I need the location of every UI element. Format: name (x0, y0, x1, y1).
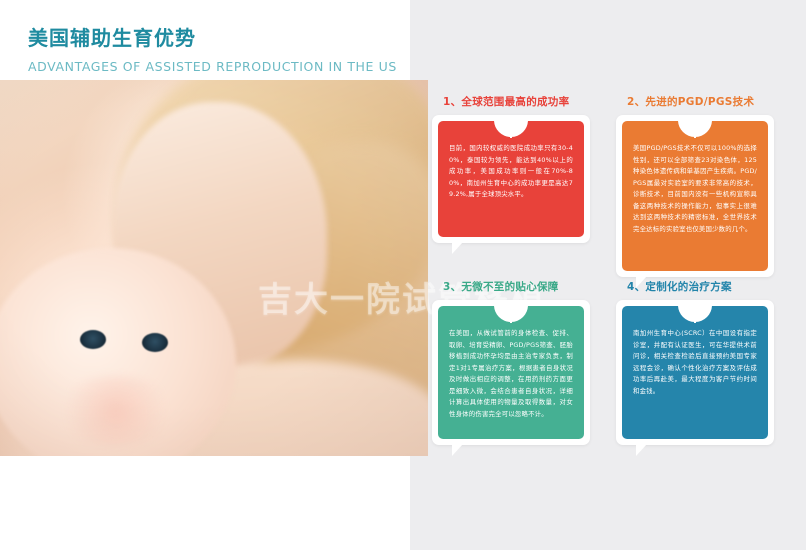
card-3-tail (452, 444, 463, 456)
card-3-text: 在美国，从做试管前的身体检查、促排、取卵、培育受精卵、PGD/PGS筛查、胚胎移… (449, 328, 573, 420)
card-3-heading: 3、无微不至的贴心保障 (432, 273, 590, 300)
hero-photo (0, 80, 428, 456)
advantage-card-2[interactable]: 2、先进的PGD/PGS技术 + 美国PGD/PGS技术不仅可以100%的选择性… (616, 88, 774, 277)
card-1-body: + 目前，国内较权威的医院成功率只有30-40%，泰国较为领先，能达到40%以上… (438, 121, 584, 237)
card-3-bubble: + 在美国，从做试管前的身体检查、促排、取卵、培育受精卵、PGD/PGS筛查、胚… (432, 300, 590, 445)
plus-icon: + (502, 124, 521, 143)
card-2-heading: 2、先进的PGD/PGS技术 (616, 88, 774, 115)
page-subtitle: ADVANTAGES OF ASSISTED REPRODUCTION IN T… (28, 58, 408, 76)
advantage-card-1[interactable]: 1、全球范围最高的成功率 + 目前，国内较权威的医院成功率只有30-40%，泰国… (432, 88, 590, 243)
card-2-text: 美国PGD/PGS技术不仅可以100%的选择性别，还可以全部筛查23对染色体，1… (633, 143, 757, 235)
card-3-body: + 在美国，从做试管前的身体检查、促排、取卵、培育受精卵、PGD/PGS筛查、胚… (438, 306, 584, 439)
plus-icon: + (686, 309, 705, 328)
plus-icon: + (502, 309, 521, 328)
card-1-bubble: + 目前，国内较权威的医院成功率只有30-40%，泰国较为领先，能达到40%以上… (432, 115, 590, 243)
page-root: 美国辅助生育优势 ADVANTAGES OF ASSISTED REPRODUC… (0, 0, 806, 550)
card-4-heading: 4、定制化的治疗方案 (616, 273, 774, 300)
card-4-tail (636, 444, 647, 456)
card-1-heading: 1、全球范围最高的成功率 (432, 88, 590, 115)
page-header: 美国辅助生育优势 ADVANTAGES OF ASSISTED REPRODUC… (28, 24, 408, 76)
plus-icon: + (686, 124, 705, 143)
card-4-text: 南加州生育中心(SCRC）在中国设有指定诊室，并配有认证医生，可在华提供术前问诊… (633, 328, 757, 397)
photo-vignette (0, 80, 428, 456)
card-4-body: + 南加州生育中心(SCRC）在中国设有指定诊室，并配有认证医生，可在华提供术前… (622, 306, 768, 439)
card-1-text: 目前，国内较权威的医院成功率只有30-40%，泰国较为领先，能达到40%以上的成… (449, 143, 573, 201)
page-title: 美国辅助生育优势 (28, 24, 408, 52)
advantage-card-3[interactable]: 3、无微不至的贴心保障 + 在美国，从做试管前的身体检查、促排、取卵、培育受精卵… (432, 273, 590, 445)
card-2-bubble: + 美国PGD/PGS技术不仅可以100%的选择性别，还可以全部筛查23对染色体… (616, 115, 774, 277)
card-1-tail (452, 242, 463, 254)
card-2-body: + 美国PGD/PGS技术不仅可以100%的选择性别，还可以全部筛查23对染色体… (622, 121, 768, 271)
card-4-bubble: + 南加州生育中心(SCRC）在中国设有指定诊室，并配有认证医生，可在华提供术前… (616, 300, 774, 445)
advantage-card-4[interactable]: 4、定制化的治疗方案 + 南加州生育中心(SCRC）在中国设有指定诊室，并配有认… (616, 273, 774, 445)
